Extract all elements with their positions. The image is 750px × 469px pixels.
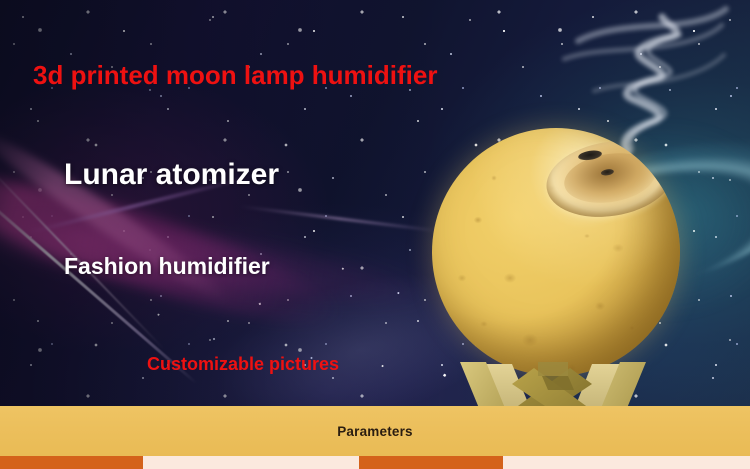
subhead-fashion-humidifier: Fashion humidifier: [64, 253, 270, 280]
tagline-customizable-pictures: Customizable pictures: [147, 354, 339, 375]
page-title: 3d printed moon lamp humidifier: [33, 60, 437, 91]
spec-table-header-cell: [359, 456, 503, 469]
moon-lamp-sphere: [432, 128, 680, 376]
spec-table-row: [0, 456, 750, 469]
spec-table-value-cell: [143, 456, 359, 469]
moon-lamp: [432, 128, 680, 378]
product-banner-page: 3d printed moon lamp humidifier Lunar at…: [0, 0, 750, 469]
subhead-lunar-atomizer: Lunar atomizer: [64, 158, 279, 192]
spec-table-value-cell: [503, 456, 750, 469]
spec-table-header-cell: [0, 456, 143, 469]
vent-inner-recess: [561, 147, 659, 209]
parameters-section-title: Parameters: [0, 406, 750, 456]
